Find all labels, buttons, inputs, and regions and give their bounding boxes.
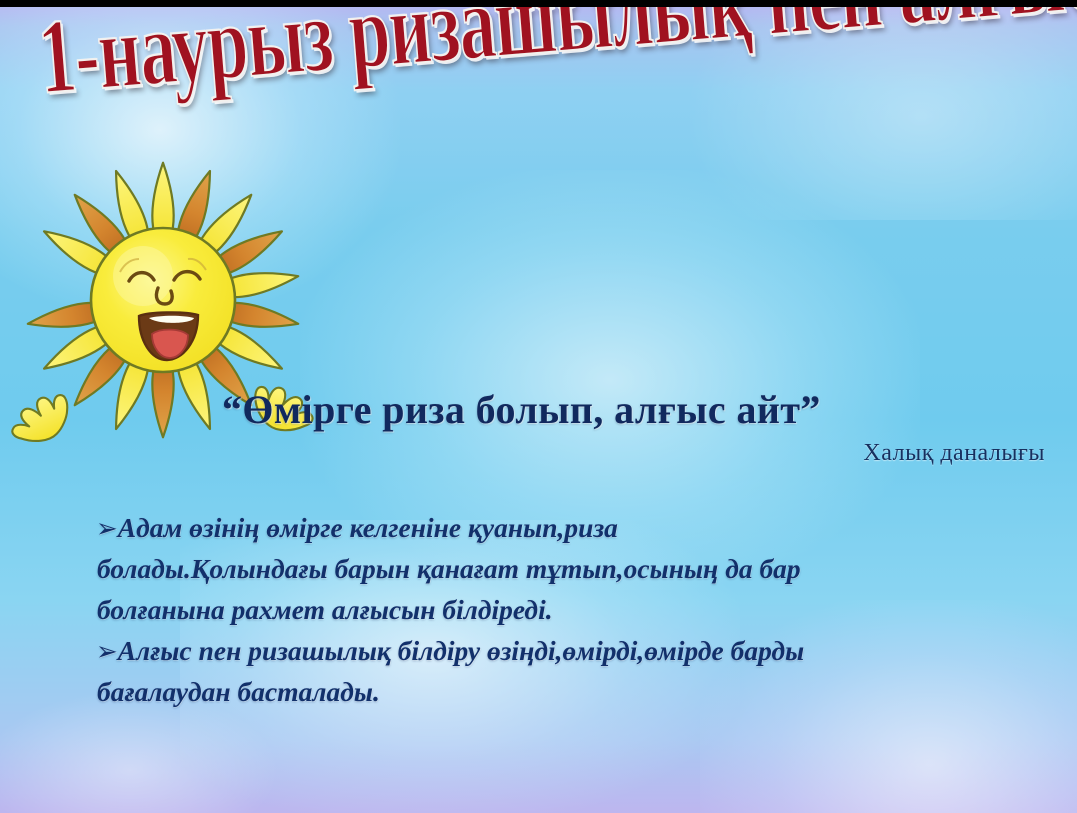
- body-line-text: бағалаудан басталады.: [97, 676, 380, 707]
- body-line: болғанына рахмет алғысын білдіреді.: [96, 590, 996, 631]
- poster-title: 1-наурыз ризашылық пен алғыс күні: [37, 0, 1077, 109]
- body-line-text: Адам өзінің өмірге келгеніне қуанып,риза: [118, 512, 618, 543]
- poster-canvas: 1-наурыз ризашылық пен алғыс күні “Өмірг…: [0, 0, 1077, 813]
- title-area: 1-наурыз ризашылық пен алғыс күні: [0, 16, 1077, 166]
- body-line: ➢Адам өзінің өмірге келгеніне қуанып,риз…: [96, 508, 996, 549]
- quote-attribution: Халық даналығы: [0, 440, 1045, 467]
- body-line: ➢Алғыс пен ризашылық білдіру өзіңді,өмір…: [96, 631, 996, 672]
- arrow-bullet-icon: ➢: [96, 514, 118, 543]
- body-line-text: болғанына рахмет алғысын білдіреді.: [97, 594, 553, 625]
- top-black-band: [0, 0, 1077, 7]
- poster-title-text: 1-наурыз ризашылық пен алғыс күні: [35, 0, 1077, 109]
- body-line: болады.Қолындағы барын қанағат тұтып,осы…: [96, 549, 996, 590]
- body-text-block: ➢Адам өзінің өмірге келгеніне қуанып,риз…: [96, 508, 996, 713]
- body-line-text: Алғыс пен ризашылық білдіру өзіңді,өмірд…: [118, 635, 804, 666]
- quote-text: “Өмірге риза болып, алғыс айт”: [222, 386, 1062, 433]
- body-line: бағалаудан басталады.: [96, 672, 996, 713]
- body-line-text: болады.Қолындағы барын қанағат тұтып,осы…: [97, 553, 801, 584]
- arrow-bullet-icon: ➢: [96, 637, 118, 666]
